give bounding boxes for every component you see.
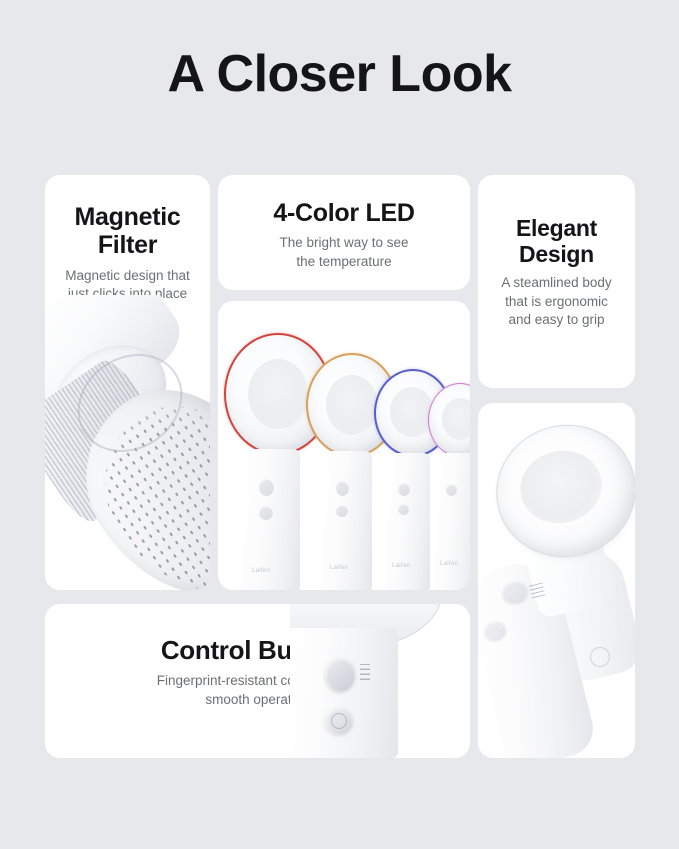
led-button-top-pink <box>446 484 457 496</box>
led-button-top-indigo <box>398 483 410 496</box>
magnetic-filter-heading: Magnetic Filter <box>55 203 200 260</box>
led-text-block: 4-Color LED The bright way to see the te… <box>218 175 470 272</box>
brand-label-red: Laifen <box>252 568 270 574</box>
led-button-top-red <box>259 479 274 496</box>
magnetic-filter-photo <box>45 295 210 590</box>
led-subtitle-line1: The bright way to see <box>279 235 408 250</box>
brand-label-pink: Laifen <box>440 561 458 567</box>
led-handle-pink <box>436 453 470 590</box>
elegant-design-subtitle-line1: A steamlined body <box>501 275 611 290</box>
led-handle-red <box>242 449 300 590</box>
magnetic-filter-subtitle-line1: Magnetic design that <box>65 268 190 283</box>
led-subtitle: The bright way to see the temperature <box>234 234 454 271</box>
page-title: A Closer Look <box>0 44 679 104</box>
card-control-buttons: Control Buttons Fingerprint-resistant co… <box>45 604 470 758</box>
magnetic-filter-heading-line2: Filter <box>98 231 157 259</box>
magnetic-filter-text-block: Magnetic Filter Magnetic design that jus… <box>45 175 210 304</box>
elegant-design-subtitle: A steamlined body that is ergonomic and … <box>486 274 627 330</box>
control-button-power <box>325 658 355 692</box>
magnetic-filter-heading-line1: Magnetic <box>75 203 181 231</box>
led-button-top-orange <box>336 481 349 496</box>
led-button-bottom-red <box>259 506 273 520</box>
brand-label-indigo: Laifen <box>392 563 410 569</box>
led-dryers-photo: Laifen Laifen Laifen <box>218 301 470 590</box>
elegant-design-subtitle-line2: that is ergonomic <box>505 294 608 309</box>
led-handle-indigo <box>386 453 430 590</box>
led-button-bottom-indigo <box>398 504 409 515</box>
elegant-design-text-block: Elegant Design A steamlined body that is… <box>478 175 635 330</box>
control-indicator-marks <box>360 664 370 680</box>
led-button-bottom-orange <box>336 505 348 517</box>
card-magnetic-filter: Magnetic Filter Magnetic design that jus… <box>45 175 210 590</box>
elegant-dryer-photo <box>478 403 635 758</box>
elegant-design-heading-line2: Design <box>519 241 594 267</box>
elegant-design-heading: Elegant Design <box>486 215 627 267</box>
control-buttons-photo <box>290 604 470 758</box>
brand-label-orange: Laifen <box>330 565 348 571</box>
infographic-page: A Closer Look Magnetic Filter Magnetic d… <box>0 0 679 849</box>
control-button-mode-inner-ring <box>331 713 347 729</box>
led-subtitle-line2: the temperature <box>296 254 391 269</box>
elegant-design-heading-line1: Elegant <box>516 215 597 241</box>
card-elegant-design-photo <box>478 403 635 758</box>
elegant-design-subtitle-line3: and easy to grip <box>508 312 604 327</box>
card-four-color-led-text: 4-Color LED The bright way to see the te… <box>218 175 470 290</box>
dryer-handle-barrel-shape <box>290 628 398 758</box>
card-four-color-led-photo: Laifen Laifen Laifen <box>218 301 470 590</box>
led-heading: 4-Color LED <box>234 199 454 227</box>
card-elegant-design-text: Elegant Design A steamlined body that is… <box>478 175 635 388</box>
